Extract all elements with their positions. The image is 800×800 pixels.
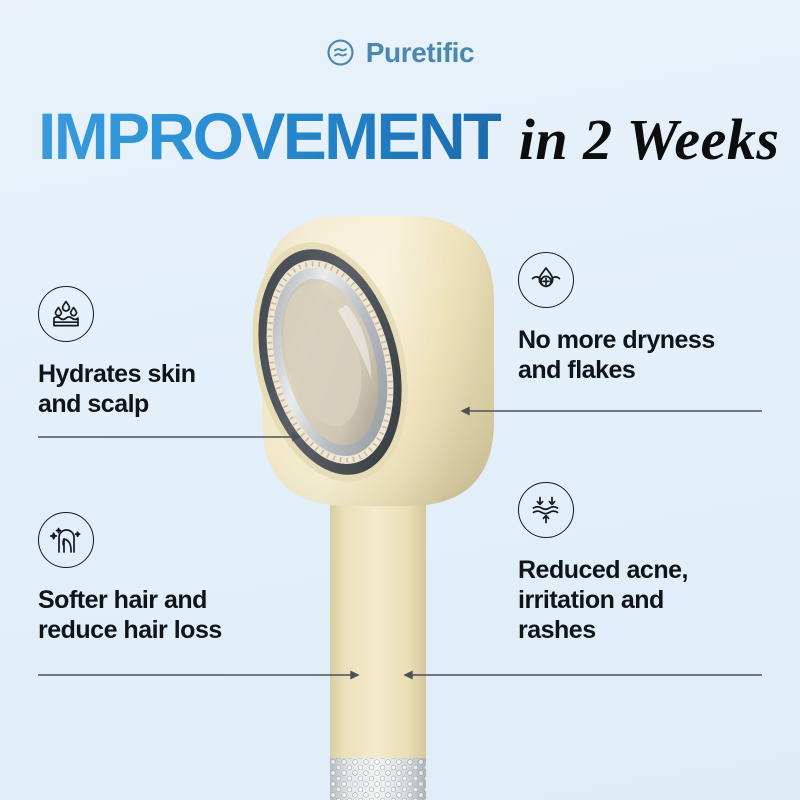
- page-title: IMPROVEMENT in 2 Weeks: [38, 103, 778, 169]
- infographic-page: Puretific IMPROVEMENT in 2 Weeks Hydrate…: [0, 0, 800, 800]
- feature-softer-label: Softer hair and reduce hair loss: [38, 585, 222, 645]
- connector-hydrates: [38, 434, 300, 441]
- feature-hydrates-label: Hydrates skin and scalp: [38, 359, 195, 419]
- circle-waves-icon: [326, 38, 355, 67]
- feature-hydrates: Hydrates skin and scalp: [38, 286, 195, 419]
- headline-accent: in 2 Weeks: [519, 111, 780, 169]
- feature-acne-label: Reduced acne, irritation and rashes: [518, 555, 688, 645]
- arrows-compress-waves-icon: [518, 482, 574, 538]
- feature-dryness-label: No more dryness and flakes: [518, 325, 715, 385]
- feature-dryness: No more dryness and flakes: [518, 252, 715, 385]
- hair-sparkle-icon: [38, 512, 94, 568]
- droplet-plus-icon: [518, 252, 574, 308]
- feature-acne: Reduced acne, irritation and rashes: [518, 482, 688, 645]
- connector-softer: [38, 672, 358, 679]
- brand-lockup: Puretific: [0, 38, 800, 67]
- connector-dryness: [462, 408, 762, 415]
- headline-main: IMPROVEMENT: [38, 103, 501, 169]
- water-drops-basin-icon: [38, 286, 94, 342]
- brand-name: Puretific: [366, 39, 474, 67]
- feature-softer: Softer hair and reduce hair loss: [38, 512, 222, 645]
- connector-acne: [405, 672, 762, 679]
